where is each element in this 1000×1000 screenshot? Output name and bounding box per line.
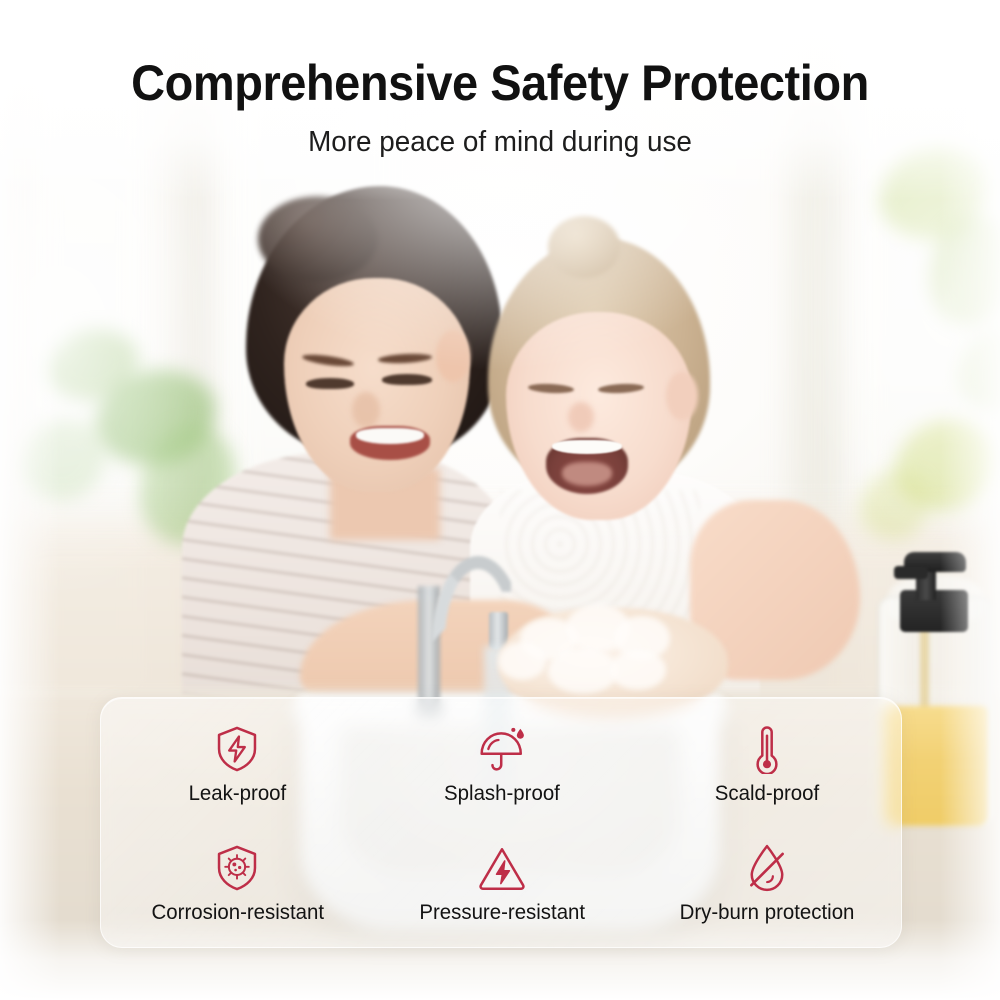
child-teeth (552, 440, 622, 454)
soap-foam (610, 650, 666, 690)
child-tongue (562, 462, 612, 486)
safety-feature-panel: Leak-proof Splash-proof (100, 697, 902, 948)
page-subtitle: More peace of mind during use (20, 126, 980, 159)
feature-item-leak-proof[interactable]: Leak-proof (105, 706, 370, 825)
shield-germ-icon (212, 843, 262, 893)
umbrella-droplets-icon (477, 724, 527, 774)
woman-hair-bun (258, 196, 378, 282)
shield-bolt-icon (212, 724, 262, 774)
woman-ear (436, 330, 470, 382)
feature-item-splash-proof[interactable]: Splash-proof (370, 706, 635, 825)
woman-nose (352, 392, 380, 428)
feature-grid: Leak-proof Splash-proof (101, 698, 903, 949)
feature-label: Splash-proof (444, 781, 560, 806)
marketing-banner: Comprehensive Safety Protection More pea… (0, 0, 1000, 1000)
feature-label: Scald-proof (714, 781, 818, 806)
thermometer-icon (742, 724, 792, 774)
feature-label: Leak-proof (188, 781, 286, 806)
soap-foam (548, 648, 618, 694)
child-ear (666, 372, 698, 420)
feature-label: Pressure-resistant (419, 900, 585, 925)
child-hair-bun (548, 216, 620, 278)
feature-label: Corrosion-resistant (151, 900, 324, 925)
feature-item-pressure-resistant[interactable]: Pressure-resistant (370, 825, 635, 944)
feature-item-scald-proof[interactable]: Scald-proof (634, 706, 899, 825)
woman-eye (382, 374, 432, 385)
child-nose (568, 402, 594, 432)
soap-foam (498, 642, 546, 680)
page-title: Comprehensive Safety Protection (30, 54, 970, 112)
feature-item-dry-burn-protection[interactable]: Dry-burn protection (634, 825, 899, 944)
no-water-droplet-icon (742, 843, 792, 893)
feature-item-corrosion-resistant[interactable]: Corrosion-resistant (105, 825, 370, 944)
warning-triangle-bolt-icon (477, 843, 527, 893)
soap-dispenser-pump-spout (894, 566, 928, 579)
woman-teeth (356, 428, 424, 444)
feature-label: Dry-burn protection (679, 900, 854, 925)
woman-eye (306, 378, 354, 389)
